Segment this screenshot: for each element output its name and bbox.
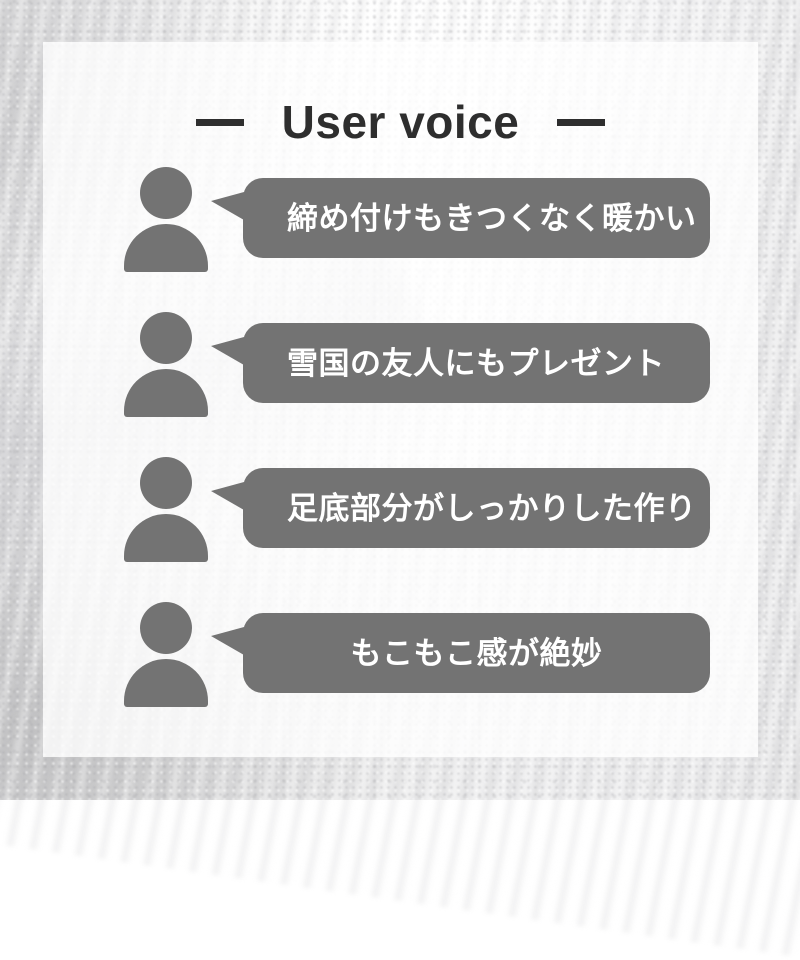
rule-right-icon (557, 119, 605, 126)
speech-bubble-tail-icon (211, 337, 244, 365)
voice-text: 締め付けもきつくなく暖かい (287, 203, 697, 234)
header: User voice (43, 99, 758, 145)
speech-bubble: 締め付けもきつくなく暖かい (243, 178, 710, 258)
voice-row: 雪国の友人にもプレゼント (43, 299, 758, 444)
speech-bubble-tail-icon (211, 482, 244, 510)
person-icon-body (124, 514, 208, 562)
person-icon-head (140, 457, 192, 509)
person-icon-head (140, 312, 192, 364)
speech-bubble: 雪国の友人にもプレゼント (243, 323, 710, 403)
rule-left-icon (196, 119, 244, 126)
person-icon-body (124, 369, 208, 417)
person-icon-body (124, 659, 208, 707)
person-icon-head (140, 167, 192, 219)
person-icon (120, 312, 212, 417)
page-title: User voice (282, 99, 520, 145)
voice-row: もこもこ感が絶妙 (43, 589, 758, 734)
voice-list: 締め付けもきつくなく暖かい 雪国の友人にもプレゼント 足底部分がしっかりした作り (43, 154, 758, 734)
speech-bubble: もこもこ感が絶妙 (243, 613, 710, 693)
speech-bubble: 足底部分がしっかりした作り (243, 468, 710, 548)
voice-text: 雪国の友人にもプレゼント (287, 348, 665, 379)
speech-bubble-tail-icon (211, 192, 244, 220)
voice-text: もこもこ感が絶妙 (351, 638, 603, 669)
person-icon (120, 602, 212, 707)
person-icon-body (124, 224, 208, 272)
overlay-card: User voice 締め付けもきつくなく暖かい 雪国の友人にもプレゼント (43, 42, 758, 757)
person-icon (120, 457, 212, 562)
voice-row: 締め付けもきつくなく暖かい (43, 154, 758, 299)
voice-text: 足底部分がしっかりした作り (287, 493, 697, 524)
person-icon-head (140, 602, 192, 654)
person-icon (120, 167, 212, 272)
voice-row: 足底部分がしっかりした作り (43, 444, 758, 589)
speech-bubble-tail-icon (211, 627, 244, 655)
